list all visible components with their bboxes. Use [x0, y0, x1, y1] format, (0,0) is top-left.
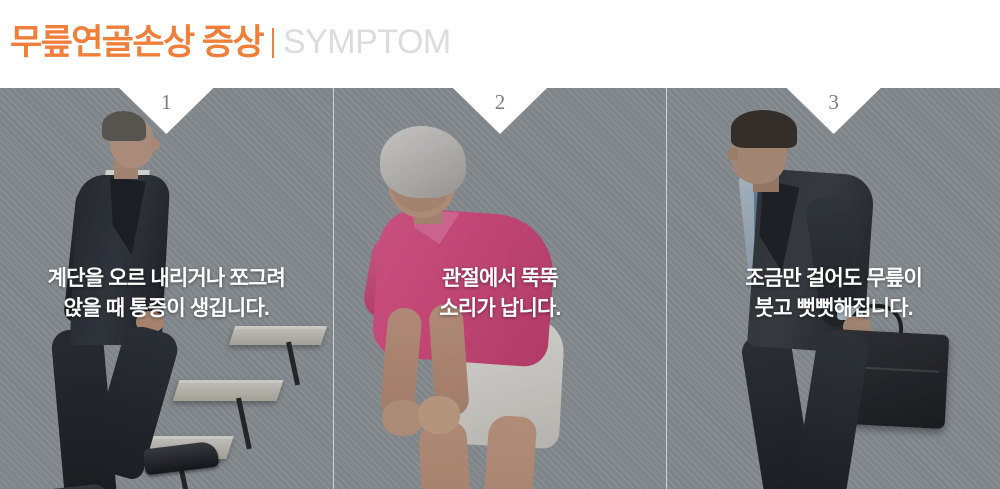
panel-3-caption-line-1: 조금만 걸어도 무릎이	[685, 264, 982, 294]
symptom-panel-row: 1 계단을 오르 내리거나 쪼그려 앉을 때 통증이 생깁니다.	[0, 88, 1000, 489]
page-header: 무릎연골손상 증상 SYMPTOM	[0, 0, 1000, 88]
symptom-panel-2[interactable]: 2 관절에서 뚝뚝 소리가 납니다.	[333, 88, 667, 489]
man-shoe-front	[143, 441, 220, 476]
panel-2-number: 2	[470, 90, 530, 114]
businessman-nose	[727, 148, 738, 160]
panel-3-caption-line-2: 붓고 뻣뻣해집니다.	[685, 294, 982, 324]
businessman-leg-front	[792, 329, 871, 489]
panel-1-number: 1	[136, 90, 196, 114]
panel-2-caption-line-2: 소리가 납니다.	[352, 294, 649, 324]
page-title: 무릎연골손상 증상	[10, 25, 263, 60]
page-subtitle: SYMPTOM	[283, 25, 451, 59]
panel-3-number: 3	[804, 90, 864, 114]
businessman-hair	[731, 110, 797, 148]
symptom-banner: 무릎연골손상 증상 SYMPTOM	[0, 0, 1000, 489]
man-hair	[102, 111, 146, 141]
panel-1-caption: 계단을 오르 내리거나 쪼그려 앉을 때 통증이 생깁니다.	[0, 264, 333, 324]
panel-3-caption: 조금만 걸어도 무릎이 붓고 뻣뻣해집니다.	[667, 264, 1000, 324]
panel-1-caption-line-1: 계단을 오르 내리거나 쪼그려	[18, 264, 315, 294]
panel-1-caption-line-2: 앉을 때 통증이 생깁니다.	[18, 294, 315, 324]
title-divider	[272, 28, 274, 58]
stair-post	[236, 397, 252, 449]
symptom-panel-3[interactable]: 3 조금만 걸어도 무릎이 붓고 뻣뻣해집니다.	[666, 88, 1000, 489]
woman-hand-right	[418, 396, 460, 434]
stair-step	[229, 326, 327, 345]
symptom-panel-1[interactable]: 1 계단을 오르 내리거나 쪼그려 앉을 때 통증이 생깁니다.	[0, 88, 333, 489]
woman-gray-hair	[380, 126, 466, 198]
man-nose	[150, 139, 160, 150]
panel-2-caption: 관절에서 뚝뚝 소리가 납니다.	[334, 264, 667, 324]
stair-post	[286, 341, 300, 385]
panel-2-caption-line-1: 관절에서 뚝뚝	[352, 264, 649, 294]
